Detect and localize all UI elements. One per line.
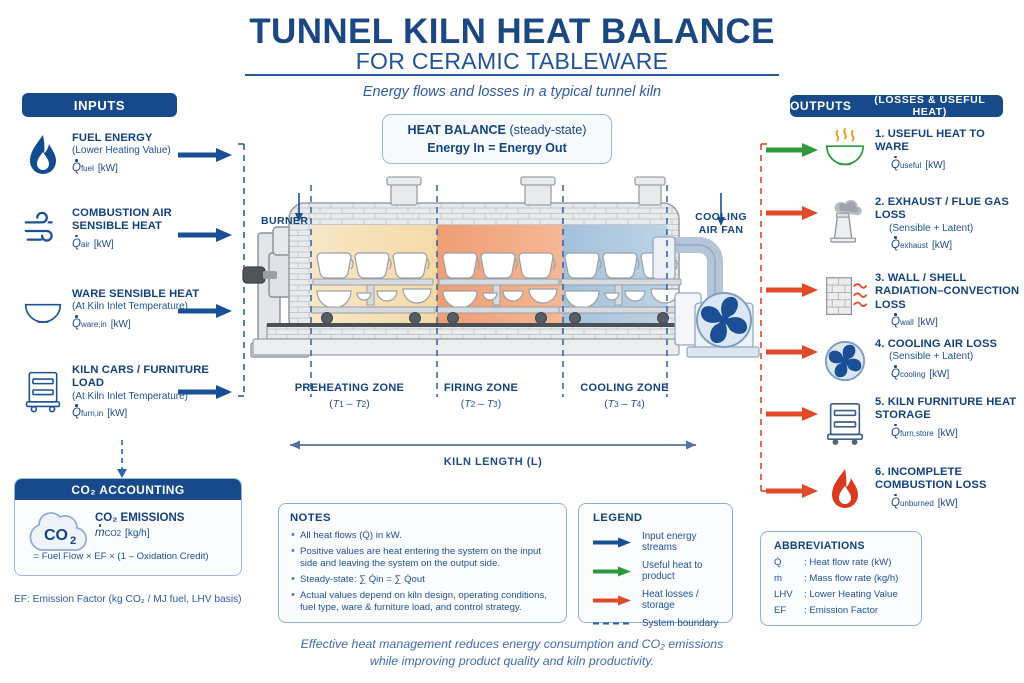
red-flame-icon (823, 466, 867, 514)
output-item-exhaust: 2. EXHAUST / FLUE GAS LOSS (Sensible + L… (823, 196, 1023, 251)
input-title: WARE SENSIBLE HEAT (72, 288, 224, 301)
input-symbol: Qfuel[kW] (72, 162, 224, 174)
output-arrow-wall (766, 283, 822, 297)
burner-label: BURNER (261, 215, 308, 227)
abbreviation-value: : Lower Heating Value (804, 589, 912, 600)
svg-text:2: 2 (70, 535, 76, 547)
abbreviation-value: : Emission Factor (804, 605, 912, 616)
abbreviation-key: ṁ (774, 573, 804, 584)
kiln-car-icon (22, 364, 64, 416)
note-item: Actual values depend on kiln design, ope… (290, 590, 556, 615)
fan-icon (823, 338, 867, 384)
outputs-section-badge: OUTPUTS (LOSSES & USEFUL HEAT) (790, 95, 1003, 117)
wind-icon (22, 207, 64, 255)
input-symbol: Qfurn,in[kW] (72, 407, 224, 419)
output-symbol: Quseful[kW] (891, 159, 1018, 171)
legend-title: LEGEND (593, 512, 722, 524)
output-arrow-exhaust (766, 206, 822, 220)
zone-label-cooling: COOLING ZONE (T3 – T4) (546, 382, 703, 410)
q-dot-symbol: Q (891, 239, 900, 251)
q-subscript: furn,store (900, 429, 934, 438)
kiln-car-icon (823, 396, 867, 448)
legend-label: Input energy streams (642, 531, 722, 553)
output-arrow-incomplete-combustion (766, 484, 822, 498)
q-unit: [kW] (929, 369, 949, 380)
page-title: TUNNEL KILN HEAT BALANCE (0, 12, 1024, 52)
smokestack-icon (823, 196, 867, 244)
system-boundary-right (753, 140, 769, 495)
output-title: 4. COOLING AIR LOSS (875, 338, 1023, 351)
outputs-badge-main: OUTPUTS (790, 99, 852, 113)
q-subscript: cooling (900, 370, 925, 379)
abbreviations-title: ABBREVIATIONS (774, 540, 912, 552)
footer-line-1: Effective heat management reduces energy… (0, 636, 1024, 653)
output-symbol: Qexhaust[kW] (891, 239, 1023, 251)
q-subscript: wall (900, 318, 914, 327)
legend-dashed-line-icon (593, 618, 633, 629)
input-arrow-fuel (178, 148, 236, 162)
notes-title: NOTES (290, 512, 556, 524)
co2-formula: = Fuel Flow × EF × (1 – Oxidation Credit… (12, 551, 230, 562)
q-dot-symbol: Q (72, 238, 81, 250)
kiln-illustration (243, 175, 763, 405)
footer-line-2: while improving product quality and kiln… (0, 653, 1024, 670)
m-subscript: CO2 (105, 529, 121, 538)
q-subscript: unburned (900, 499, 934, 508)
legend-arrow-blue-icon (593, 537, 633, 548)
notes-box: NOTES All heat flows (Q̇) in kW. Positiv… (278, 503, 567, 623)
input-arrow-kiln-cars (178, 385, 236, 399)
q-dot-symbol: Q (891, 497, 900, 509)
kiln-zone-labels: PREHEATING ZONE (T1 – T2) FIRING ZONE (T… (283, 382, 703, 432)
q-subscript: furn,in (81, 409, 103, 418)
output-item-wall-loss: 3. WALL / SHELL RADIATION–CONVECTION LOS… (823, 272, 1023, 328)
q-dot-symbol: Q (72, 318, 81, 330)
output-title: 6. INCOMPLETE COMBUSTION LOSS (875, 466, 1023, 493)
legend-item-input-streams: Input energy streams (593, 531, 722, 553)
q-dot-symbol: Q (72, 162, 81, 174)
output-symbol: Qunburned[kW] (891, 497, 1023, 509)
output-arrow-furniture-storage (766, 407, 822, 421)
heat-balance-line-2: Energy In = Energy Out (427, 141, 567, 155)
output-symbol: Qcooling[kW] (891, 368, 1023, 380)
note-item: All heat flows (Q̇) in kW. (290, 530, 556, 542)
abbreviation-value: : Mass flow rate (kg/h) (804, 573, 912, 584)
zone-name: COOLING ZONE (546, 382, 703, 395)
emission-factor-note: EF: Emission Factor (kg CO₂ / MJ fuel, L… (14, 594, 244, 605)
q-subscript: fuel (81, 164, 94, 173)
q-dot-symbol: Q (72, 407, 81, 419)
zone-name: PREHEATING ZONE (283, 382, 416, 395)
legend-arrow-green-icon (593, 566, 633, 577)
q-unit: [kW] (918, 317, 938, 328)
input-title: FUEL ENERGY (72, 132, 224, 145)
legend-arrow-red-icon (593, 595, 633, 606)
co2-symbol: mCO2[kg/h] (95, 527, 184, 539)
heat-balance-box: HEAT BALANCE (steady-state) Energy In = … (382, 114, 612, 164)
heat-balance-qualifier: (steady-state) (509, 123, 586, 137)
legend-label: Useful heat to product (642, 560, 722, 582)
abbreviation-row: Q̇ : Heat flow rate (kW) (774, 557, 912, 568)
zone-temperature-range: (T1 – T2) (283, 398, 416, 410)
q-subscript: air (81, 240, 90, 249)
legend-item-useful-heat: Useful heat to product (593, 560, 722, 582)
legend-item-heat-losses: Heat losses / storage (593, 589, 722, 611)
brick-wall-icon (823, 272, 867, 322)
q-subscript: exhaust (900, 241, 928, 250)
footer-message: Effective heat management reduces energy… (0, 636, 1024, 669)
abbreviations-box: ABBREVIATIONS Q̇ : Heat flow rate (kW) ṁ… (760, 531, 922, 626)
kiln-length-label: KILN LENGTH (L) (283, 456, 703, 468)
output-title: 3. WALL / SHELL RADIATION–CONVECTION LOS… (875, 272, 1023, 312)
kiln-base (267, 325, 679, 339)
abbreviation-row: ṁ : Mass flow rate (kg/h) (774, 573, 912, 584)
zone-temperature-range: (T2 – T3) (416, 398, 546, 410)
input-arrow-ware (178, 304, 236, 318)
legend-box: LEGEND Input energy streams Useful heat … (578, 503, 733, 623)
page-subtitle: FOR CERAMIC TABLEWARE (0, 48, 1024, 75)
zone-label-preheating: PREHEATING ZONE (T1 – T2) (283, 382, 416, 410)
output-item-furniture-storage: 5. KILN FURNITURE HEAT STORAGE Qfurn,sto… (823, 396, 1023, 448)
diagram-canvas: TUNNEL KILN HEAT BALANCE FOR CERAMIC TAB… (0, 0, 1024, 683)
q-unit: [kW] (938, 428, 958, 439)
output-item-useful-heat: 1. USEFUL HEAT TO WARE Quseful[kW] (823, 128, 1018, 172)
legend-label: Heat losses / storage (642, 589, 722, 611)
q-dot-symbol: Q (891, 159, 900, 171)
bowl-icon (22, 288, 64, 336)
output-title: 1. USEFUL HEAT TO WARE (875, 128, 1018, 155)
q-unit: [kW] (98, 163, 118, 174)
input-arrow-combustion-air (178, 228, 236, 242)
note-item: Steady-state: ∑ Q̇in = ∑ Q̇out (290, 574, 556, 586)
q-subscript: useful (900, 161, 921, 170)
cooling-air-fan-label: COOLING AIR FAN (688, 211, 754, 237)
q-unit: [kW] (107, 408, 127, 419)
q-dot-symbol: Q (891, 316, 900, 328)
zone-label-firing: FIRING ZONE (T2 – T3) (416, 382, 546, 410)
note-item: Positive values are heat entering the sy… (290, 546, 556, 571)
q-dot-symbol: Q (891, 368, 900, 380)
zone-name: FIRING ZONE (416, 382, 546, 395)
kiln-length-dimension (278, 438, 708, 452)
kiln-chimneys (387, 177, 665, 205)
abbreviation-key: EF (774, 605, 804, 616)
abbreviation-key: LHV (774, 589, 804, 600)
svg-text:CO: CO (44, 527, 68, 544)
output-arrow-cooling-air (766, 345, 822, 359)
output-title: 2. EXHAUST / FLUE GAS LOSS (875, 196, 1023, 223)
outputs-badge-sub: (LOSSES & USEFUL HEAT) (857, 94, 1003, 118)
output-title: 5. KILN FURNITURE HEAT STORAGE (875, 396, 1023, 423)
q-unit: [kW] (925, 160, 945, 171)
flame-icon (22, 132, 64, 180)
hot-bowl-icon (823, 128, 867, 172)
abbreviation-value: : Heat flow rate (kW) (804, 557, 912, 568)
zone-temperature-range: (T3 – T4) (546, 398, 703, 410)
q-unit: [kW] (932, 240, 952, 251)
legend-item-system-boundary: System boundary (593, 618, 722, 629)
m-dot-symbol: m (95, 527, 105, 539)
q-unit: [kW] (94, 239, 114, 250)
heat-balance-bold: HEAT BALANCE (408, 123, 506, 137)
inputs-section-badge: INPUTS (22, 93, 177, 117)
output-subtitle: (Sensible + Latent) (889, 351, 1023, 364)
abbreviation-row: LHV : Lower Heating Value (774, 589, 912, 600)
input-symbol: Qware,in[kW] (72, 318, 224, 330)
heat-balance-line-1: HEAT BALANCE (steady-state) (408, 123, 587, 137)
m-unit: [kg/h] (125, 528, 149, 539)
co2-title: CO₂ EMISSIONS (95, 512, 184, 524)
notes-list: All heat flows (Q̇) in kW. Positive valu… (290, 530, 556, 614)
q-subscript: ware,in (81, 320, 107, 329)
abbreviation-key: Q̇ (774, 557, 804, 568)
output-arrow-useful-heat (766, 143, 822, 157)
output-symbol: Qwall[kW] (891, 316, 1023, 328)
title-divider (245, 74, 779, 76)
output-symbol: Qfurn,store[kW] (891, 427, 1023, 439)
q-unit: [kW] (111, 319, 131, 330)
output-item-incomplete-combustion: 6. INCOMPLETE COMBUSTION LOSS Qunburned[… (823, 466, 1023, 514)
co2-connector-arrow (114, 440, 130, 480)
q-dot-symbol: Q (891, 427, 900, 439)
abbreviation-row: EF : Emission Factor (774, 605, 912, 616)
q-unit: [kW] (938, 498, 958, 509)
legend-label: System boundary (642, 618, 718, 629)
output-subtitle: (Sensible + Latent) (889, 223, 1023, 236)
output-item-cooling-air-loss: 4. COOLING AIR LOSS (Sensible + Latent) … (823, 338, 1023, 384)
co2-box-header: CO₂ ACCOUNTING (15, 479, 241, 500)
